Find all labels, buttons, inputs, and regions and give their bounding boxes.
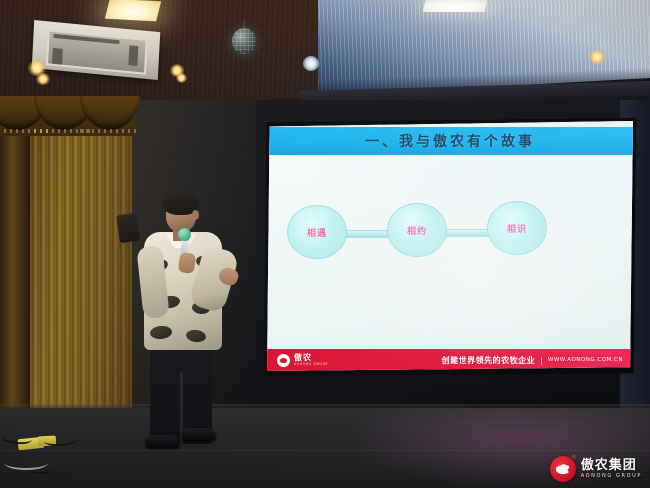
- cable: [30, 466, 52, 474]
- slide-footer-brand-text: 傲农 AONONG GROUP: [294, 354, 328, 366]
- aonong-group-logo-icon: ®: [550, 456, 576, 482]
- disco-ball-icon: [232, 28, 256, 54]
- spotlight-icon: [36, 73, 50, 85]
- ac-vent: [128, 45, 138, 66]
- floor-seam: [0, 450, 650, 451]
- slide-footer-brand-en: AONONG GROUP: [294, 363, 328, 366]
- watermark-brand-cn: 傲农集团: [581, 459, 642, 472]
- diagram-node-label: 相约: [407, 224, 427, 237]
- slide-footer-right: 创建世界领先的农牧企业 | WWW.AONONG.COM.CN: [442, 355, 623, 366]
- slide-footer-bar: 傲农 AONONG GROUP 创建世界领先的农牧企业 | WWW.AONONG…: [267, 349, 633, 371]
- slide-title-bar: 一、我与傲农有个故事: [267, 127, 633, 155]
- wall-speaker: [116, 213, 140, 244]
- watermark: ® 傲农集团 AONONG GROUP: [550, 456, 642, 482]
- ac-vent: [52, 48, 63, 65]
- slide-diagram: 相遇 相约 相识: [267, 155, 633, 337]
- diagram-node-3: 相识: [487, 201, 547, 255]
- watermark-brand-en: AONONG GROUP: [581, 474, 642, 479]
- spotlight-icon: [176, 73, 187, 83]
- presenter-shoe: [146, 435, 180, 448]
- presenter-shoe: [182, 428, 216, 441]
- diagram-node-label: 相识: [507, 222, 527, 235]
- ceiling-panel-light: [105, 0, 161, 21]
- presenter-ear: [192, 210, 199, 220]
- slide-footer-url: WWW.AONONG.COM.CN: [548, 357, 623, 363]
- slide-footer-brand-cn: 傲农: [294, 354, 328, 362]
- slide-footer-brand: 傲农 AONONG GROUP: [277, 354, 328, 367]
- projection-screen: 一、我与傲农有个故事 相遇 相约 相识: [267, 121, 633, 371]
- diagram-node-1: 相遇: [287, 205, 347, 259]
- microphone-icon: [178, 228, 191, 241]
- diagram-node-label: 相遇: [307, 226, 327, 239]
- curtain-fold: [0, 112, 30, 424]
- slide-title: 一、我与傲农有个故事: [365, 131, 535, 151]
- spotlight-icon: [589, 50, 605, 64]
- screenshot-root: 一、我与傲农有个故事 相遇 相约 相识: [0, 0, 650, 488]
- slide-footer-slogan: 创建世界领先的农牧企业: [442, 355, 536, 366]
- spotlight-icon: [303, 56, 319, 71]
- aonong-logo-icon: [277, 354, 290, 367]
- registered-trademark-icon: ®: [571, 455, 577, 461]
- diagram-node-2: 相约: [387, 203, 447, 257]
- slide-footer-separator: |: [540, 356, 543, 365]
- slide: 一、我与傲农有个故事 相遇 相约 相识: [267, 121, 633, 371]
- ceiling-panel-light: [423, 0, 488, 12]
- watermark-text: 傲农集团 AONONG GROUP: [581, 459, 642, 479]
